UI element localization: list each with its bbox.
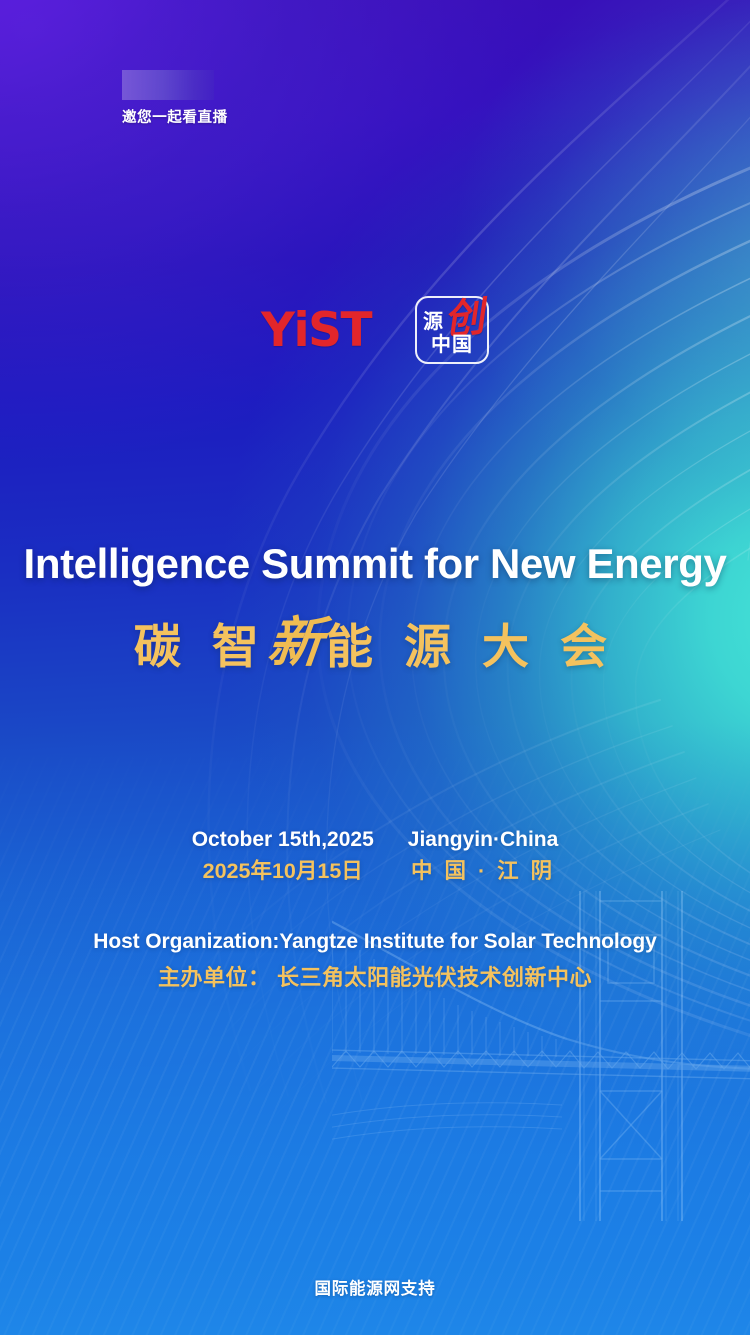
live-invite-block: 邀您一起看直播 bbox=[122, 70, 322, 127]
live-invite-label: 邀您一起看直播 bbox=[122, 106, 322, 127]
logo-char-yuan: 源 bbox=[423, 312, 443, 332]
headline-chinese-pre: 碳 智 bbox=[134, 620, 268, 673]
live-swatch bbox=[122, 70, 214, 100]
event-date-chinese: 2025年10月15日 bbox=[203, 854, 363, 885]
headline-chinese-post: 能 源 大 会 bbox=[326, 620, 616, 673]
host-organization-chinese: 主办单位： 长三角太阳能光伏技术创新中心 bbox=[0, 960, 750, 992]
headline-chinese-brush-char: 新 bbox=[265, 613, 329, 672]
yuanchuang-china-logo: 源 创 中国 bbox=[415, 296, 489, 364]
footer-support-label: 国际能源网支持 bbox=[0, 1275, 750, 1299]
logo-row: YiST 源 创 中国 bbox=[0, 296, 750, 364]
event-date-english: October 15th,2025 bbox=[192, 828, 374, 852]
event-poster: 邀您一起看直播 YiST 源 创 中国 Intelligence Summit … bbox=[0, 0, 750, 1335]
event-meta-grid: October 15th,2025 Jiangyin·China 2025年10… bbox=[192, 828, 559, 885]
event-meta: October 15th,2025 Jiangyin·China 2025年10… bbox=[0, 828, 750, 885]
event-place-chinese: 中 国 · 江 阴 bbox=[411, 854, 555, 885]
host-organization-english: Host Organization:Yangtze Institute for … bbox=[0, 930, 750, 954]
logo-char-zhongguo: 中国 bbox=[417, 335, 487, 355]
yist-logo: YiST bbox=[261, 307, 371, 354]
event-place-english: Jiangyin·China bbox=[408, 828, 559, 852]
host-organization: Host Organization:Yangtze Institute for … bbox=[0, 930, 750, 992]
headline-chinese: 碳 智新能 源 大 会 bbox=[0, 615, 750, 674]
poster-content: 邀您一起看直播 YiST 源 创 中国 Intelligence Summit … bbox=[0, 0, 750, 1335]
headline-english: Intelligence Summit for New Energy bbox=[0, 543, 750, 585]
